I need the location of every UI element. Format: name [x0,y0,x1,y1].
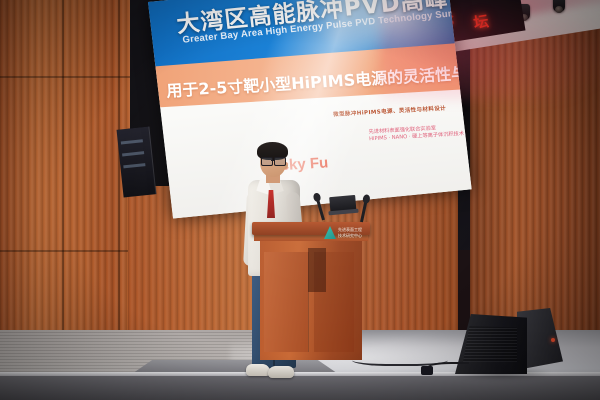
power-led-icon [551,338,555,342]
lectern: 先进表面工程 技术研究中心 [252,222,370,360]
spotlight-icon [553,0,565,12]
right-wood-wall [470,18,600,338]
presenter-shoe [246,364,270,376]
logo-mark-icon [324,226,336,239]
lectern-panel [264,252,309,352]
side-display-panel [117,126,157,197]
presenter-laptop [329,195,357,217]
led-char: 坛 [472,10,490,33]
lectern-shadow [308,248,326,292]
logo-text-line: 先进表面工程 [338,227,362,232]
logo-text-line: 技术研究中心 [338,233,362,238]
glasses-icon [261,157,286,164]
stage-monitor-speaker [455,306,565,378]
wall-seam [0,76,150,78]
speaker-connector [421,366,433,375]
presenter-shoe [268,366,294,378]
speaker-grille [463,326,517,362]
lectern-logo: 先进表面工程 技术研究中心 [324,225,364,241]
conference-photo: 高 峰 论 坛 大湾区高能脉冲PVD高峰论坛 Greater Bay Area … [0,0,600,400]
